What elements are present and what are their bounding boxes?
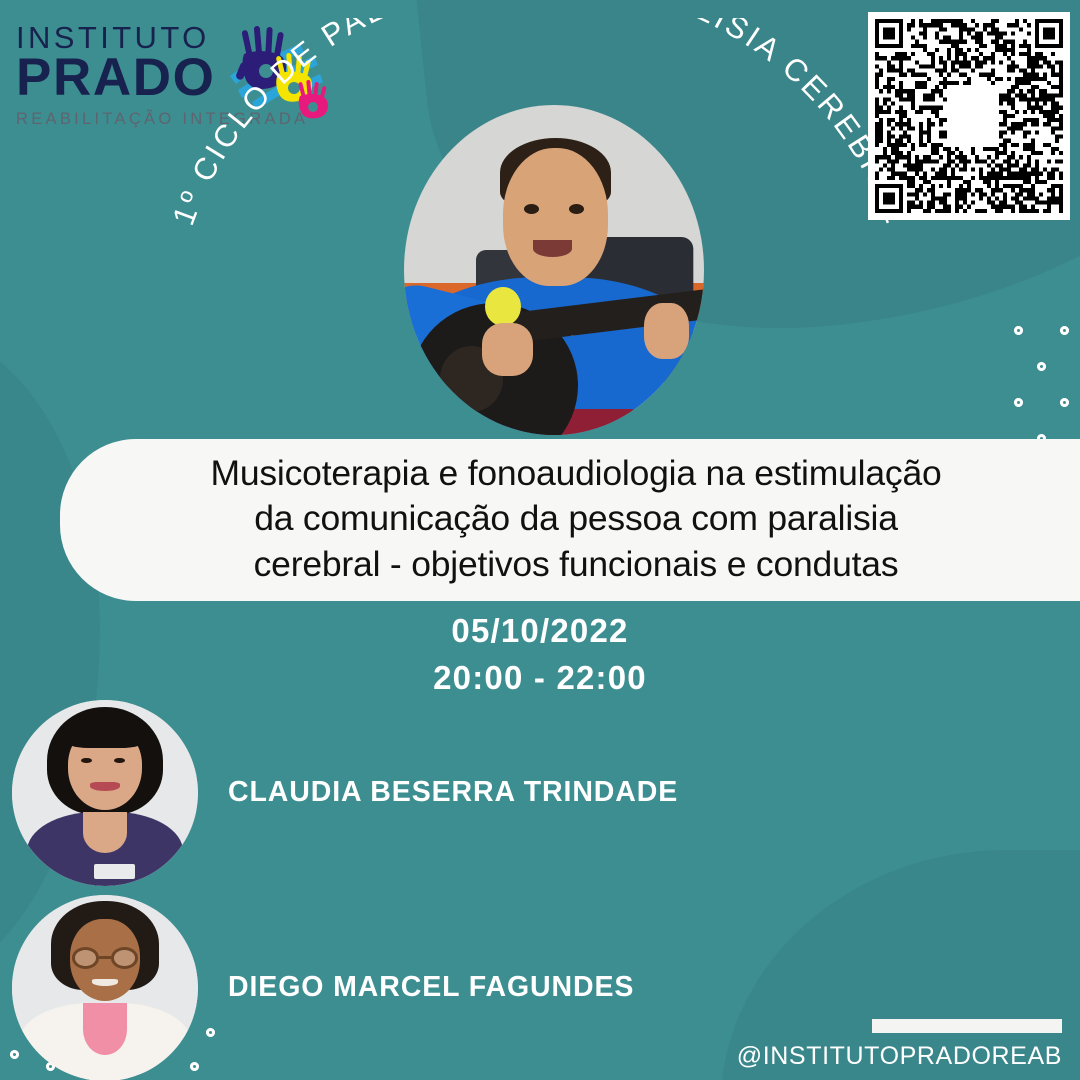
footer-accent-bar [872,1019,1062,1033]
lecture-title: Musicoterapia e fonoaudiologia na estimu… [210,451,941,587]
qr-code[interactable] [868,12,1070,220]
speaker-photo-claudia [12,700,198,886]
social-handle[interactable]: @INSTITUTOPRADOREAB [737,1042,1062,1071]
dot-pattern-right [1012,326,1080,446]
decorative-dot [1037,362,1046,371]
decorative-dot [1014,398,1023,407]
qr-code-canvas [875,19,1063,213]
decorative-dot [1060,326,1069,335]
event-poster: INSTITUTO PRADO REABILITAÇÃO INTEGRADA [0,0,1080,1080]
hero-photo-boy-with-guitar [404,105,704,435]
decorative-dot [1014,326,1023,335]
speaker-row: CLAUDIA BESERRA TRINDADE [0,700,1080,890]
speaker-photo-diego [12,895,198,1080]
decorative-dot [1060,398,1069,407]
event-time: 20:00 - 22:00 [0,655,1080,702]
lecture-title-card: Musicoterapia e fonoaudiologia na estimu… [60,439,1080,601]
speaker-name: CLAUDIA BESERRA TRINDADE [228,776,678,809]
speaker-name: DIEGO MARCEL FAGUNDES [228,971,634,1004]
event-datetime: 05/10/2022 20:00 - 22:00 [0,608,1080,702]
event-date: 05/10/2022 [0,608,1080,655]
